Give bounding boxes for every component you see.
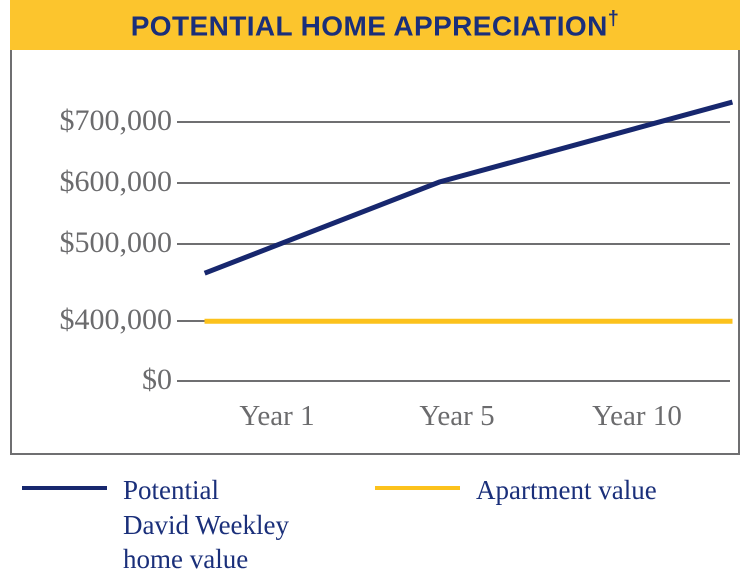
- legend-swatch-potential-home-value: [22, 486, 107, 490]
- legend-label-apartment-value: Apartment value: [476, 473, 657, 508]
- chart-plot-area: $700,000 $600,000 $500,000 $400,000 $0 Y…: [10, 50, 740, 455]
- page-title-text: POTENTIAL HOME APPRECIATION: [131, 11, 608, 42]
- legend-label-potential-home-value: Potential David Weekley home value: [123, 473, 289, 577]
- page-title: POTENTIAL HOME APPRECIATION†: [131, 9, 620, 40]
- footnote-dagger-marker: †: [608, 8, 620, 30]
- chart-legend: Potential David Weekley home value Apart…: [10, 465, 740, 580]
- series-line-potential-home-value: [207, 103, 730, 273]
- legend-swatch-apartment-value: [375, 486, 460, 490]
- legend-item-potential-home-value[interactable]: Potential David Weekley home value: [22, 473, 289, 577]
- chart-series-layer: [12, 50, 738, 451]
- legend-item-apartment-value[interactable]: Apartment value: [375, 473, 657, 508]
- title-banner: POTENTIAL HOME APPRECIATION†: [10, 0, 740, 50]
